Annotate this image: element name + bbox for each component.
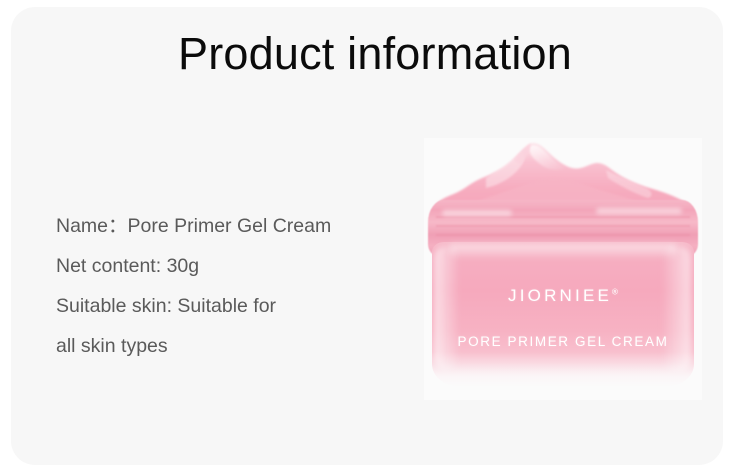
jar-brand-label: JIORNIEE® <box>424 286 702 306</box>
jar-rim-highlight <box>596 208 682 214</box>
product-information-banner: Product information Name：Pore Primer Gel… <box>0 0 750 465</box>
jar-rim-ridge <box>436 225 690 227</box>
jar-product-name-label: PORE PRIMER GEL CREAM <box>424 334 702 349</box>
spec-line-net-content: Net content: 30g <box>56 246 416 286</box>
registered-trademark-icon: ® <box>612 287 618 296</box>
product-jar-image: JIORNIEE® PORE PRIMER GEL CREAM <box>424 138 702 400</box>
jar-rim-ridge <box>436 216 690 218</box>
spec-line-name: Name：Pore Primer Gel Cream <box>56 206 416 246</box>
page-title: Product information <box>0 26 750 82</box>
jar-body <box>432 242 694 386</box>
jar-rim-highlight <box>442 210 512 216</box>
spec-line-suitable-skin: Suitable skin: Suitable for <box>56 286 416 326</box>
spec-line-skin-types: all skin types <box>56 326 416 366</box>
product-specs-list: Name：Pore Primer Gel Cream Net content: … <box>56 206 416 366</box>
jar-top-sheen <box>450 244 676 260</box>
jar-brand-text: JIORNIEE <box>508 286 612 305</box>
jar-rim-ridge <box>436 234 690 236</box>
jar-bottom-fade <box>428 352 698 396</box>
